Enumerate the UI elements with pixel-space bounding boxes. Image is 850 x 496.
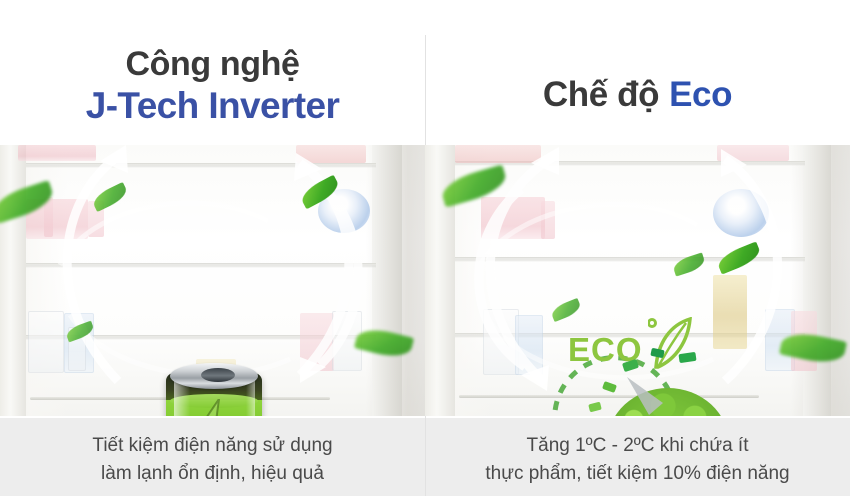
illustration-stage-left: [0, 145, 425, 416]
caption-right: Tăng 1ºC - 2ºC khi chứa ít thực phẩm, ti…: [425, 432, 850, 488]
caption-band: Tiết kiệm điện năng sử dụng làm lạnh ổn …: [0, 418, 850, 496]
battery-cap: [170, 363, 258, 389]
page-title-prefix: Chế độ: [543, 75, 659, 114]
eco-leaf-icon: [648, 317, 694, 376]
green-battery-icon: [166, 363, 262, 416]
illustration-stage-right: ECO: [425, 145, 850, 416]
lightning-bolt-icon: [186, 399, 240, 416]
panel-title-right: Chế độEco: [425, 76, 850, 113]
page-title-accent: Eco: [669, 75, 732, 114]
flake-cone-icon: [623, 373, 683, 416]
panel-title-left: Công nghệ J-Tech Inverter: [0, 46, 425, 125]
page-title-line1: Công nghệ: [0, 46, 425, 82]
promo-banner: Công nghệ J-Tech Inverter: [0, 0, 850, 496]
page-title-eco: Chế độEco: [425, 76, 850, 113]
caption-left: Tiết kiệm điện năng sử dụng làm lạnh ổn …: [0, 432, 425, 488]
page-title-line2: J-Tech Inverter: [0, 86, 425, 125]
battery-terminal: [201, 368, 235, 382]
